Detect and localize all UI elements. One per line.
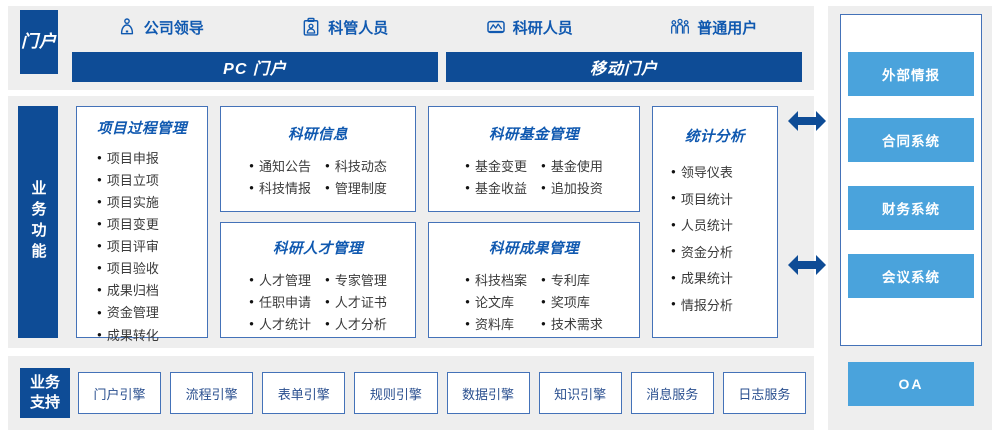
role-item-general-user[interactable]: 普通用户	[622, 10, 807, 44]
external-system-button[interactable]: 财务系统	[848, 186, 974, 230]
role-item-research-admin[interactable]: 科管人员	[253, 10, 438, 44]
support-button[interactable]: 流程引擎	[170, 372, 253, 414]
list-item[interactable]: 人才管理	[249, 270, 311, 292]
architecture-diagram: 门户 公司领导 科管人员 科研人员	[0, 0, 1000, 436]
external-system-button[interactable]: 外部情报	[848, 52, 974, 96]
card-item-list-right: 科技动态 管理制度	[325, 156, 387, 200]
portal-section-label: 门户	[20, 10, 58, 74]
portal-bar-mobile[interactable]: 移动门户	[446, 52, 802, 82]
list-item[interactable]: 基金收益	[465, 178, 527, 200]
list-item[interactable]: 资料库	[465, 314, 527, 336]
card-item-list: 领导仪表 项目统计 人员统计 资金分析 成果统计 情报分析	[671, 160, 777, 319]
list-item[interactable]: 任职申请	[249, 292, 311, 314]
card-title: 项目过程管理	[77, 117, 207, 138]
list-item[interactable]: 基金变更	[465, 156, 527, 178]
list-item[interactable]: 人才证书	[325, 292, 387, 314]
support-button[interactable]: 消息服务	[631, 372, 714, 414]
card-research-talent[interactable]: 科研人才管理 人才管理 任职申请 人才统计 专家管理 人才证书 人才分析	[220, 222, 416, 338]
support-label-line1: 业务	[30, 373, 60, 393]
list-item[interactable]: 成果统计	[671, 266, 777, 293]
badge-person-icon	[301, 17, 321, 37]
list-item[interactable]: 科技情报	[249, 178, 311, 200]
card-statistical-analysis[interactable]: 统计分析 领导仪表 项目统计 人员统计 资金分析 成果统计 情报分析	[652, 106, 778, 338]
portal-bar-row: PC 门户 移动门户	[72, 52, 802, 82]
portal-role-row: 公司领导 科管人员 科研人员	[68, 10, 806, 44]
support-section-label: 业务 支持	[20, 368, 70, 418]
support-button[interactable]: 门户引擎	[78, 372, 161, 414]
card-research-info[interactable]: 科研信息 通知公告 科技情报 科技动态 管理制度	[220, 106, 416, 212]
role-label: 科研人员	[513, 17, 573, 38]
list-item[interactable]: 资金管理	[97, 302, 207, 324]
support-item-row: 门户引擎 流程引擎 表单引擎 规则引擎 数据引擎 知识引擎 消息服务 日志服务	[78, 372, 806, 414]
card-title: 科研人才管理	[221, 237, 415, 258]
card-item-list-right: 基金使用 追加投资	[541, 156, 603, 200]
support-button[interactable]: 数据引擎	[447, 372, 530, 414]
card-title: 科研基金管理	[429, 123, 639, 144]
list-item[interactable]: 项目统计	[671, 187, 777, 214]
card-item-list: 项目申报 项目立项 项目实施 项目变更 项目评审 项目验收 成果归档 资金管理 …	[97, 148, 207, 347]
card-research-achievement[interactable]: 科研成果管理 科技档案 论文库 资料库 专利库 奖项库 技术需求	[428, 222, 640, 338]
list-item[interactable]: 技术需求	[541, 314, 603, 336]
list-item[interactable]: 项目立项	[97, 170, 207, 192]
role-item-researcher[interactable]: 科研人员	[437, 10, 622, 44]
card-item-columns: 人才管理 任职申请 人才统计 专家管理 人才证书 人才分析	[221, 270, 415, 336]
leader-icon	[117, 17, 137, 37]
card-project-process[interactable]: 项目过程管理 项目申报 项目立项 项目实施 项目变更 项目评审 项目验收 成果归…	[76, 106, 208, 338]
card-item-list-left: 科技档案 论文库 资料库	[465, 270, 527, 336]
list-item[interactable]: 项目实施	[97, 192, 207, 214]
list-item[interactable]: 专利库	[541, 270, 603, 292]
list-item[interactable]: 成果转化	[97, 325, 207, 347]
external-system-button[interactable]: 合同系统	[848, 118, 974, 162]
list-item[interactable]: 管理制度	[325, 178, 387, 200]
group-people-icon	[670, 17, 690, 37]
card-item-columns: 科技档案 论文库 资料库 专利库 奖项库 技术需求	[429, 270, 639, 336]
list-item[interactable]: 项目申报	[97, 148, 207, 170]
list-item[interactable]: 项目验收	[97, 258, 207, 280]
card-item-list-left: 基金变更 基金收益	[465, 156, 527, 200]
support-label-line2: 支持	[30, 393, 60, 413]
list-item[interactable]: 论文库	[465, 292, 527, 314]
list-item[interactable]: 资金分析	[671, 240, 777, 267]
list-item[interactable]: 基金使用	[541, 156, 603, 178]
card-item-columns: 基金变更 基金收益 基金使用 追加投资	[429, 156, 639, 200]
support-button[interactable]: 表单引擎	[262, 372, 345, 414]
card-item-list-right: 专家管理 人才证书 人才分析	[325, 270, 387, 336]
list-item[interactable]: 领导仪表	[671, 160, 777, 187]
list-item[interactable]: 情报分析	[671, 293, 777, 320]
list-item[interactable]: 奖项库	[541, 292, 603, 314]
chart-box-icon	[486, 17, 506, 37]
list-item[interactable]: 人才分析	[325, 314, 387, 336]
support-button[interactable]: 规则引擎	[354, 372, 437, 414]
card-title: 科研成果管理	[429, 237, 639, 258]
card-title: 科研信息	[221, 123, 415, 144]
role-label: 科管人员	[328, 17, 388, 38]
support-button[interactable]: 日志服务	[723, 372, 806, 414]
card-item-list-left: 人才管理 任职申请 人才统计	[249, 270, 311, 336]
list-item[interactable]: 追加投资	[541, 178, 603, 200]
portal-bar-pc[interactable]: PC 门户	[72, 52, 438, 82]
list-item[interactable]: 人员统计	[671, 213, 777, 240]
list-item[interactable]: 项目评审	[97, 236, 207, 258]
card-item-list-right: 专利库 奖项库 技术需求	[541, 270, 603, 336]
external-system-button-oa[interactable]: OA	[848, 362, 974, 406]
list-item[interactable]: 专家管理	[325, 270, 387, 292]
list-item[interactable]: 人才统计	[249, 314, 311, 336]
role-item-company-leader[interactable]: 公司领导	[68, 10, 253, 44]
card-item-list-left: 通知公告 科技情报	[249, 156, 311, 200]
function-section-label: 业务功能	[18, 106, 58, 338]
list-item[interactable]: 通知公告	[249, 156, 311, 178]
bidirectional-arrow-bottom-icon	[786, 252, 828, 278]
list-item[interactable]: 科技动态	[325, 156, 387, 178]
list-item[interactable]: 科技档案	[465, 270, 527, 292]
card-title: 统计分析	[653, 125, 777, 146]
role-label: 普通用户	[697, 17, 757, 38]
card-item-columns: 通知公告 科技情报 科技动态 管理制度	[221, 156, 415, 200]
list-item[interactable]: 项目变更	[97, 214, 207, 236]
list-item[interactable]: 成果归档	[97, 280, 207, 302]
role-label: 公司领导	[144, 17, 204, 38]
bidirectional-arrow-top-icon	[786, 108, 828, 134]
card-research-fund[interactable]: 科研基金管理 基金变更 基金收益 基金使用 追加投资	[428, 106, 640, 212]
external-system-button[interactable]: 会议系统	[848, 254, 974, 298]
support-button[interactable]: 知识引擎	[539, 372, 622, 414]
